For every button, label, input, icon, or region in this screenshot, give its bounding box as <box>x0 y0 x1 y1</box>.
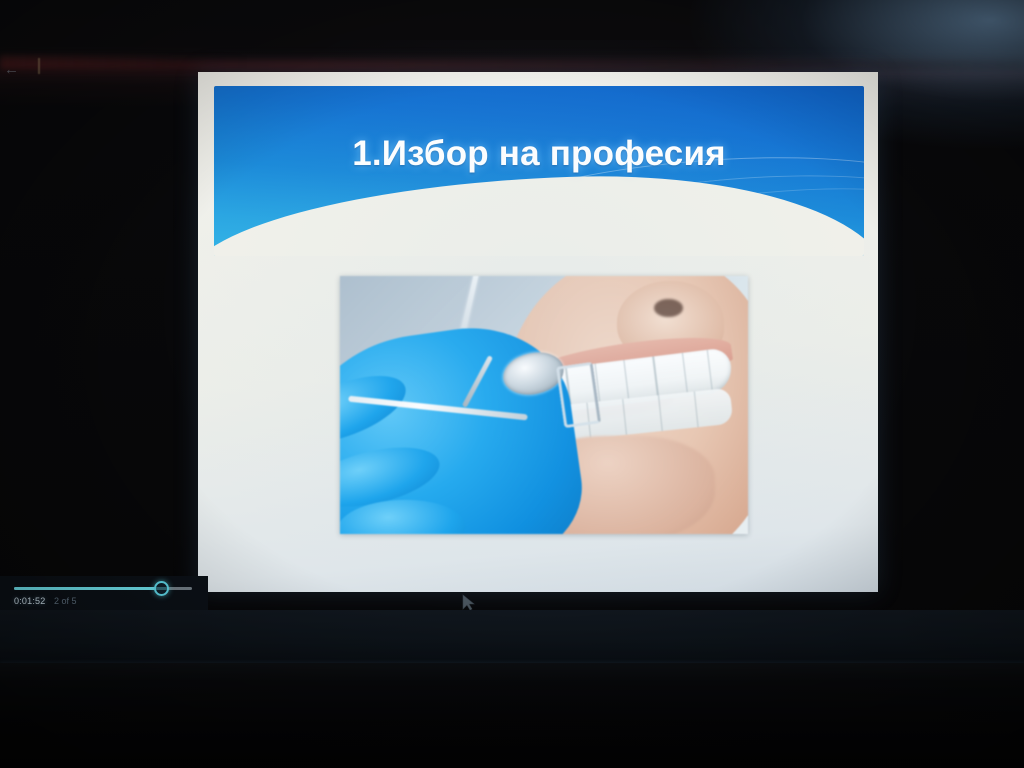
bezel-tick-mark <box>38 58 40 74</box>
slide-header-banner: 1.Избор на професия <box>214 86 864 256</box>
conference-toolbar[interactable]: +16 ЙН АМ Александров Мартин Бончева Гал… <box>0 610 1024 668</box>
laptop-screen-photo: ← 1.Избор на професия <box>0 0 1024 768</box>
photo-finger <box>340 362 414 456</box>
current-time-label: 0:01:52 <box>14 596 45 606</box>
photo-nostril <box>654 299 683 317</box>
presentation-slide[interactable]: 1.Избор на професия <box>198 72 878 592</box>
playback-progress <box>14 587 167 590</box>
mouse-cursor <box>462 594 475 611</box>
total-time-label: 2 of 5 <box>54 596 77 606</box>
back-arrow-icon[interactable]: ← <box>4 62 26 78</box>
video-player-strip[interactable]: 0:01:52 2 of 5 <box>0 576 208 613</box>
playback-scrubber-handle[interactable] <box>154 581 169 596</box>
laptop-keyboard-deck <box>0 663 1024 768</box>
slide-image-dental-exam <box>340 276 748 534</box>
slide-title: 1.Избор на професия <box>214 134 864 174</box>
